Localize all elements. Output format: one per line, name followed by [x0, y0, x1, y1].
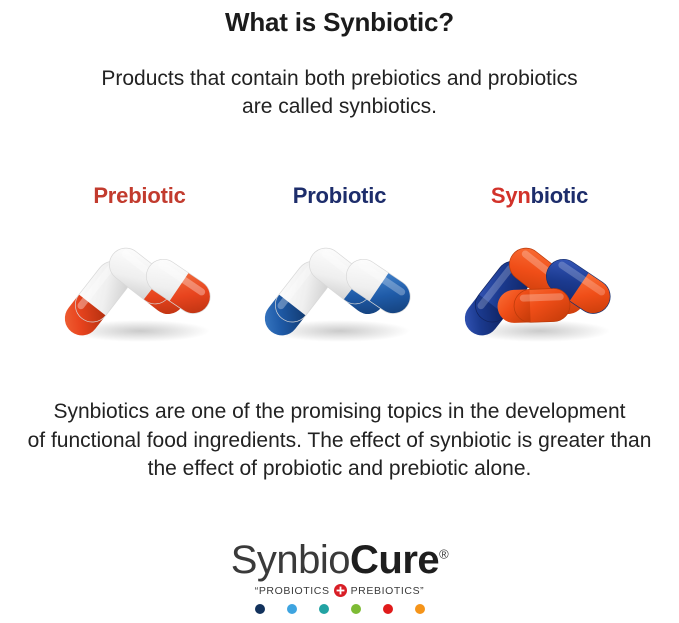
infographic-page: What is Synbiotic? Products that contain…	[0, 0, 679, 623]
column-label-probiotic: Probiotic	[240, 185, 440, 207]
probiotic-capsules-icon	[240, 213, 440, 348]
brand-color-dots	[0, 604, 679, 614]
page-title: What is Synbiotic?	[0, 0, 679, 37]
synbiotic-capsules-icon	[440, 213, 640, 348]
label-syn-prefix: Syn	[491, 183, 531, 208]
column-synbiotic: Synbiotic	[440, 185, 640, 348]
column-probiotic: Probiotic	[240, 185, 440, 348]
dot-teal	[319, 604, 329, 614]
brand-logo: SynbioCure® “PROBIOTICS PREBIOTICS”	[0, 540, 679, 614]
dot-orange	[415, 604, 425, 614]
registered-trademark-icon: ®	[439, 547, 448, 562]
prebiotic-capsules-icon	[40, 213, 240, 348]
tagline-right-text: PREBIOTICS”	[351, 585, 425, 597]
label-syn-suffix: biotic	[531, 183, 588, 208]
capsule-columns: Prebiotic	[0, 185, 679, 348]
intro-paragraph: Products that contain both prebiotics an…	[0, 65, 679, 121]
logo-word-light: Synbio	[231, 538, 350, 582]
column-prebiotic: Prebiotic	[40, 185, 240, 348]
dot-green	[351, 604, 361, 614]
dot-red	[383, 604, 393, 614]
column-label-prebiotic: Prebiotic	[40, 185, 240, 207]
logo-wordmark: SynbioCure®	[0, 540, 679, 580]
logo-tagline: “PROBIOTICS PREBIOTICS”	[0, 584, 679, 597]
tagline-left-text: “PROBIOTICS	[255, 585, 330, 597]
dot-light-blue	[287, 604, 297, 614]
outro-paragraph: Synbiotics are one of the promising topi…	[0, 398, 679, 484]
red-circle-plus-icon	[334, 584, 347, 597]
column-label-synbiotic: Synbiotic	[440, 185, 640, 207]
dot-navy	[255, 604, 265, 614]
logo-word-bold: Cure	[350, 538, 439, 582]
